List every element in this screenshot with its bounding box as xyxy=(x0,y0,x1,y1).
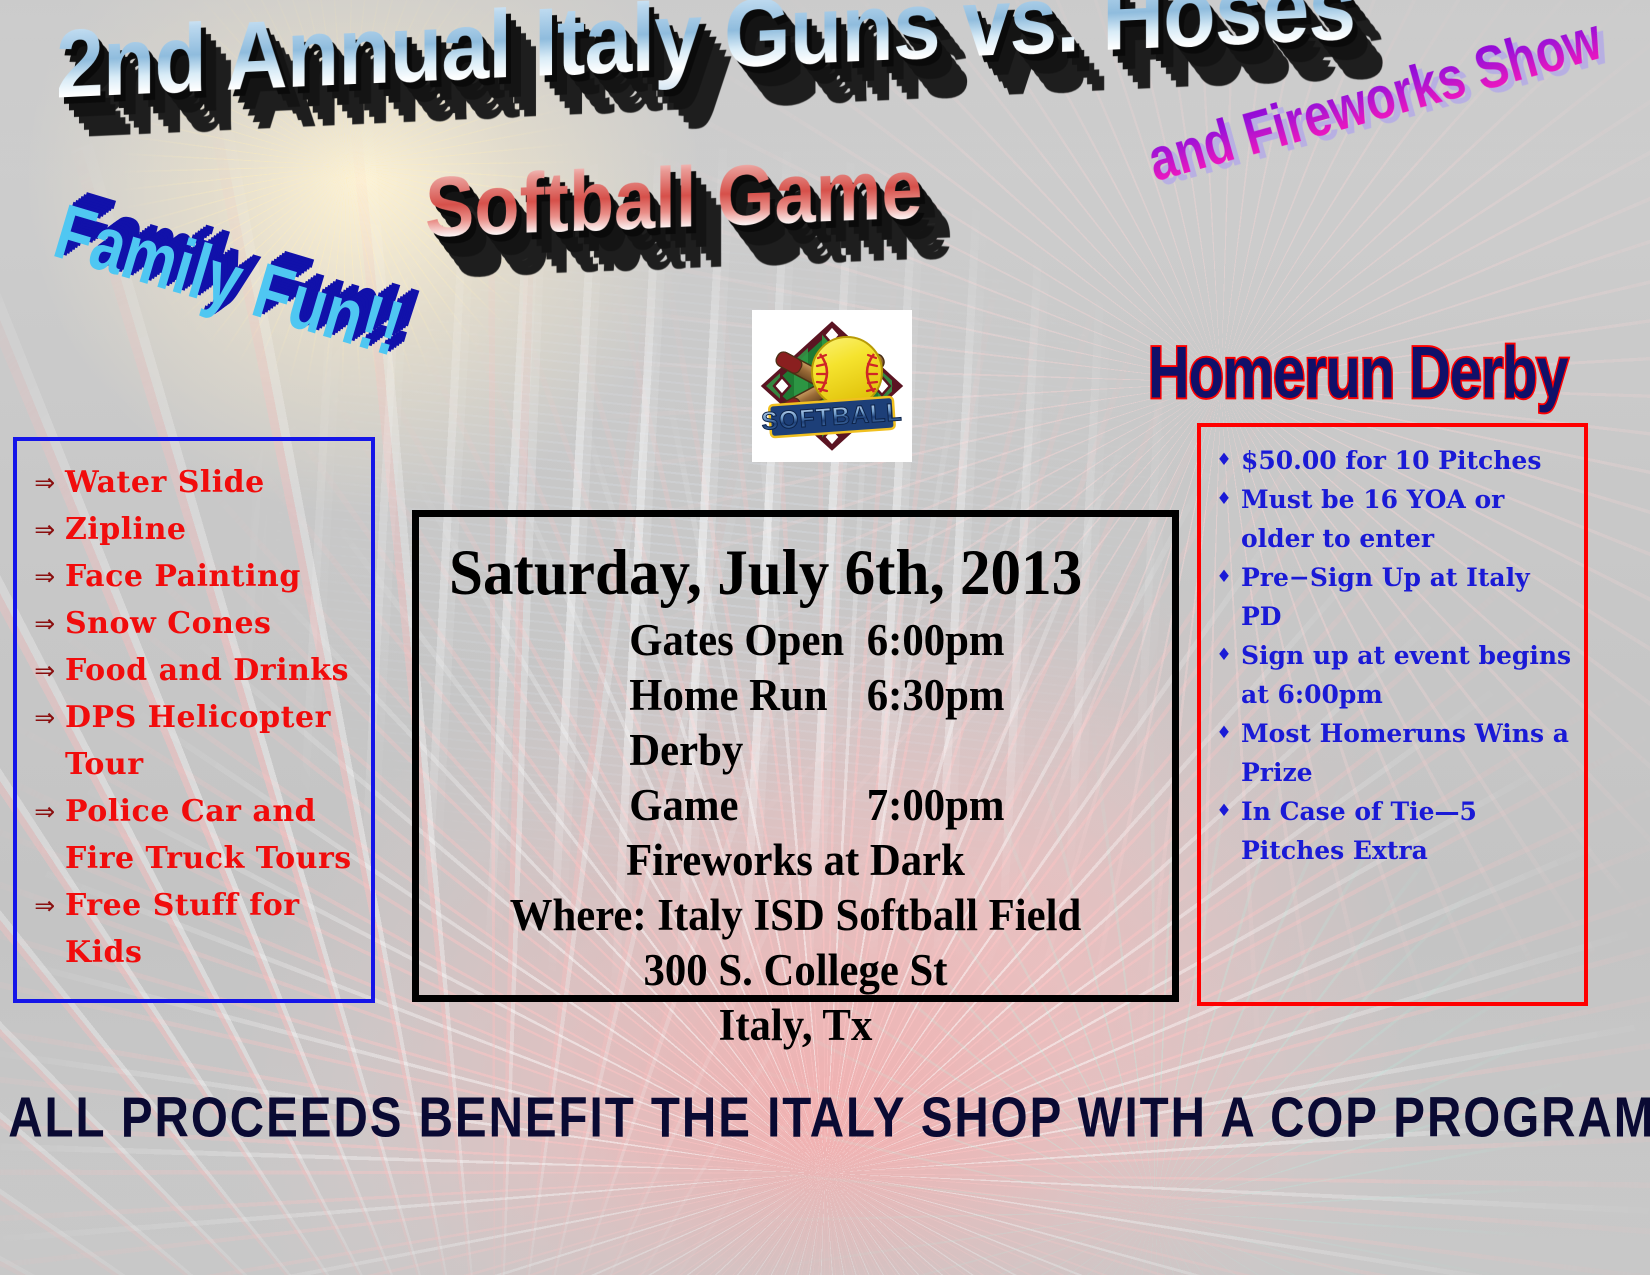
schedule-row: Game 7:00pm xyxy=(459,778,1133,833)
list-item-label: Water Slide xyxy=(65,459,363,506)
arrow-bullet-icon: ⇒ xyxy=(25,459,65,506)
list-item: ⇒ Zipline xyxy=(25,506,363,553)
list-item-label: Police Car and Fire Truck Tours xyxy=(65,788,363,882)
list-item-label: Zipline xyxy=(65,506,363,553)
list-item: ⇒ Free Stuff for Kids xyxy=(25,882,363,976)
schedule-time: 6:30pm xyxy=(867,668,1057,778)
page-subtitle: Softball Game xyxy=(425,140,923,257)
arrow-bullet-icon: ⇒ xyxy=(25,882,65,929)
list-item-label: Snow Cones xyxy=(65,600,363,647)
list-item: ♦ Sign up at event begins at 6:00pm xyxy=(1207,636,1574,714)
arrow-bullet-icon: ⇒ xyxy=(25,788,65,835)
list-item-label: In Case of Tie—5 Pitches Extra xyxy=(1241,792,1574,870)
list-item: ⇒ DPS Helicopter Tour xyxy=(25,694,363,788)
city-line: Italy, Tx xyxy=(459,998,1133,1053)
derby-rules-box: ♦ $50.00 for 10 Pitches ♦ Must be 16 YOA… xyxy=(1197,423,1588,1006)
proceeds-banner: ALL PROCEEDS BENEFIT THE ITALY SHOP WITH… xyxy=(8,1086,1642,1151)
list-item-label: Sign up at event begins at 6:00pm xyxy=(1241,636,1574,714)
list-item-label: Must be 16 YOA or older to enter xyxy=(1241,480,1574,558)
diamond-bullet-icon: ♦ xyxy=(1207,441,1241,480)
schedule-row: Home Run Derby 6:30pm xyxy=(459,668,1133,778)
page-title: 2nd Annual Italy Guns vs. Hoses xyxy=(56,0,1355,121)
diamond-bullet-icon: ♦ xyxy=(1207,558,1241,597)
schedule-row: Gates Open 6:00pm xyxy=(459,613,1133,668)
diamond-bullet-icon: ♦ xyxy=(1207,792,1241,831)
list-item-label: Most Homeruns Wins a Prize xyxy=(1241,714,1574,792)
schedule-time: 7:00pm xyxy=(867,778,1057,833)
list-item: ♦ In Case of Tie—5 Pitches Extra xyxy=(1207,792,1574,870)
list-item: ♦ Pre−Sign Up at Italy PD xyxy=(1207,558,1574,636)
diamond-bullet-icon: ♦ xyxy=(1207,714,1241,753)
diamond-bullet-icon: ♦ xyxy=(1207,636,1241,675)
schedule-label: Game xyxy=(534,778,867,833)
list-item: ⇒ Food and Drinks xyxy=(25,647,363,694)
arrow-bullet-icon: ⇒ xyxy=(25,647,65,694)
homerun-derby-label: Homerun Derby xyxy=(1148,330,1568,414)
softball-logo: SOFTBALL xyxy=(752,310,912,462)
event-flyer: 2nd Annual Italy Guns vs. Hoses Softball… xyxy=(0,0,1650,1275)
event-date: Saturday, July 6th, 2013 xyxy=(449,539,1108,607)
family-fun-label: Family Fun!! xyxy=(45,186,412,373)
event-details-box: Saturday, July 6th, 2013 Gates Open 6:00… xyxy=(412,510,1179,1002)
schedule-label: Gates Open xyxy=(534,613,867,668)
list-item-label: Food and Drinks xyxy=(65,647,363,694)
fireworks-time-line: Fireworks at Dark xyxy=(459,833,1133,888)
list-item-label: Free Stuff for Kids xyxy=(65,882,363,976)
schedule-time: 6:00pm xyxy=(867,613,1057,668)
address-line: 300 S. College St xyxy=(459,943,1133,998)
activities-list-box: ⇒ Water Slide ⇒ Zipline ⇒ Face Painting … xyxy=(13,437,375,1003)
arrow-bullet-icon: ⇒ xyxy=(25,600,65,647)
list-item: ⇒ Face Painting xyxy=(25,553,363,600)
list-item: ⇒ Police Car and Fire Truck Tours xyxy=(25,788,363,882)
list-item: ♦ $50.00 for 10 Pitches xyxy=(1207,441,1574,480)
list-item-label: Pre−Sign Up at Italy PD xyxy=(1241,558,1574,636)
arrow-bullet-icon: ⇒ xyxy=(25,553,65,600)
list-item: ⇒ Water Slide xyxy=(25,459,363,506)
arrow-bullet-icon: ⇒ xyxy=(25,506,65,553)
list-item-label: DPS Helicopter Tour xyxy=(65,694,363,788)
list-item: ⇒ Snow Cones xyxy=(25,600,363,647)
arrow-bullet-icon: ⇒ xyxy=(25,694,65,741)
list-item: ♦ Most Homeruns Wins a Prize xyxy=(1207,714,1574,792)
diamond-bullet-icon: ♦ xyxy=(1207,480,1241,519)
schedule-label: Home Run Derby xyxy=(534,668,867,778)
list-item-label: Face Painting xyxy=(65,553,363,600)
list-item-label: $50.00 for 10 Pitches xyxy=(1241,441,1574,480)
softball-logo-artwork: SOFTBALL xyxy=(752,310,912,462)
list-item: ♦ Must be 16 YOA or older to enter xyxy=(1207,480,1574,558)
venue-line: Where: Italy ISD Softball Field xyxy=(459,888,1133,943)
